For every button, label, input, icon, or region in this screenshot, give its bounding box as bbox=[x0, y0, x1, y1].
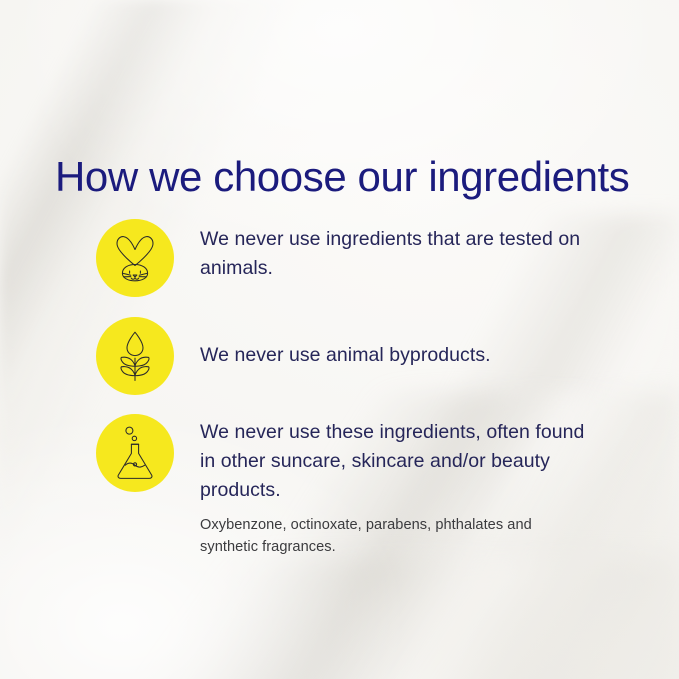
content-area: How we choose our ingredients bbox=[0, 0, 679, 679]
claim-icon-badge bbox=[96, 219, 174, 297]
plant-sprig-icon bbox=[114, 330, 156, 382]
claim-icon-badge bbox=[96, 317, 174, 395]
ingredient-claims-graphic: How we choose our ingredients bbox=[0, 0, 679, 679]
claim-text: We never use ingredients that are tested… bbox=[200, 225, 602, 283]
claim-text: We never use these ingredients, often fo… bbox=[200, 418, 602, 505]
erlenmeyer-flask-icon bbox=[114, 426, 156, 480]
bunny-heart-ears-icon bbox=[112, 233, 158, 283]
page-title: How we choose our ingredients bbox=[55, 152, 629, 202]
claim-text: We never use animal byproducts. bbox=[200, 341, 602, 370]
claim-icon-badge bbox=[96, 414, 174, 492]
claim-note: Oxybenzone, octinoxate, parabens, phthal… bbox=[200, 514, 580, 558]
